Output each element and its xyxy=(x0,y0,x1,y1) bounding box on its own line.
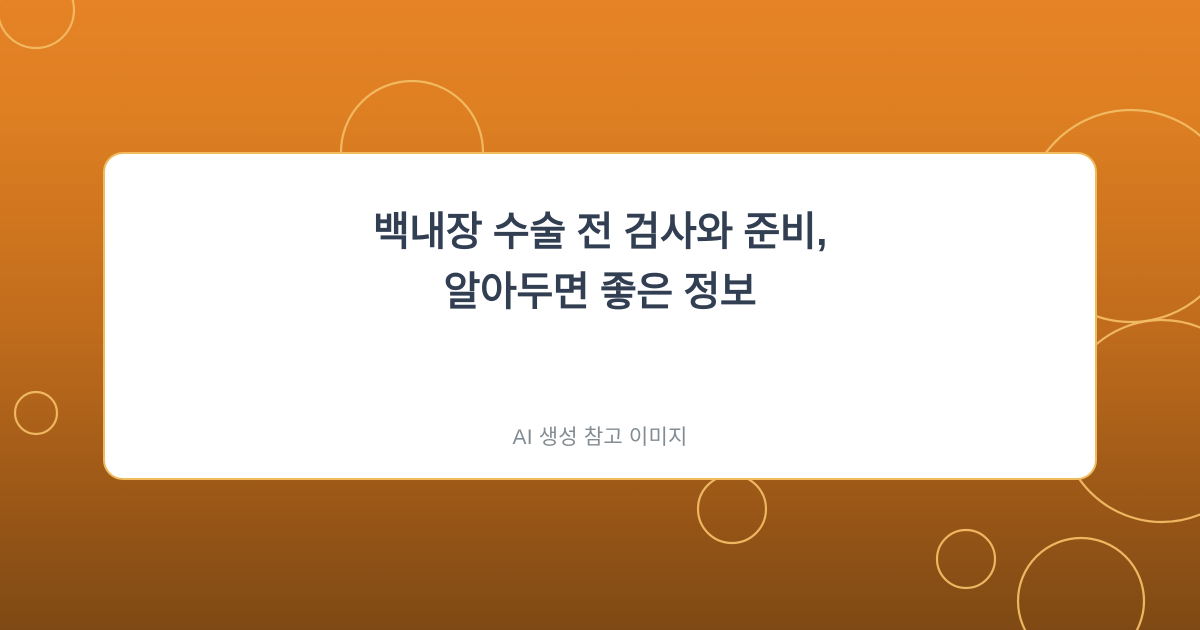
subtitle-caption: AI 생성 참고 이미지 xyxy=(105,424,1095,452)
thumbnail-canvas: 백내장 수술 전 검사와 준비, 알아두면 좋은 정보 AI 생성 참고 이미지 xyxy=(0,0,1200,630)
page-title-line-2: 알아두면 좋은 정보 xyxy=(105,262,1095,322)
content-card: 백내장 수술 전 검사와 준비, 알아두면 좋은 정보 AI 생성 참고 이미지 xyxy=(103,152,1097,480)
page-title-line-1: 백내장 수술 전 검사와 준비, xyxy=(105,202,1095,262)
page-title: 백내장 수술 전 검사와 준비, 알아두면 좋은 정보 xyxy=(105,202,1095,322)
